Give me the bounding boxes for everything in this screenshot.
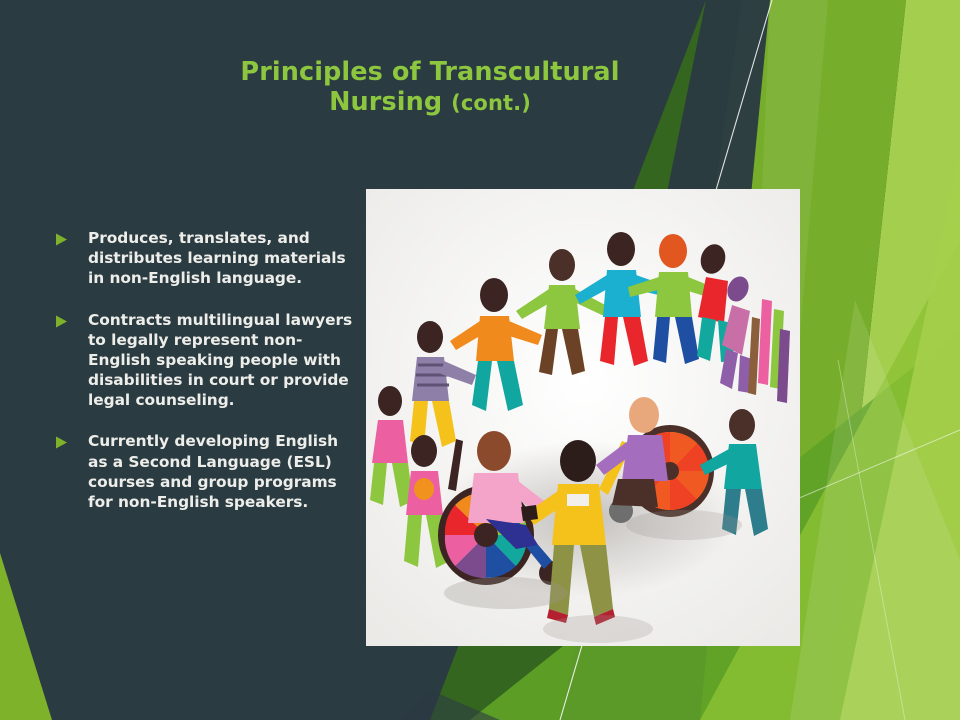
triangle-right-icon xyxy=(55,228,71,246)
bottom-right-glow xyxy=(790,300,960,720)
bullet-text: Currently developing English as a Second… xyxy=(88,431,355,512)
bullet-item: Produces, translates, and distributes le… xyxy=(55,228,355,289)
title-line-1: Principles of Transcultural xyxy=(120,58,740,88)
left-green-wedge xyxy=(0,553,52,720)
triangle-right-icon xyxy=(55,310,71,328)
bullet-text: Contracts multilingual lawyers to legall… xyxy=(88,310,355,411)
hairline-diagonal-right xyxy=(838,360,905,720)
right-pale-green-band xyxy=(828,0,960,720)
bullet-item: Contracts multilingual lawyers to legall… xyxy=(55,310,355,411)
bullet-list: Produces, translates, and distributes le… xyxy=(55,228,355,533)
slide-picture xyxy=(366,189,800,646)
title-line-2-main: Nursing xyxy=(329,87,442,117)
title-line-2: Nursing (cont.) xyxy=(120,88,740,118)
slide-title: Principles of Transcultural Nursing (con… xyxy=(120,58,740,117)
bottom-dark-notch xyxy=(400,690,500,720)
bullet-item: Currently developing English as a Second… xyxy=(55,431,355,512)
triangle-right-icon xyxy=(55,431,71,449)
slide-canvas: Principles of Transcultural Nursing (con… xyxy=(0,0,960,720)
title-continuation-label: (cont.) xyxy=(451,91,531,115)
bullet-text: Produces, translates, and distributes le… xyxy=(88,228,355,289)
bottom-right-pale-triangle xyxy=(840,150,960,720)
paper-people-illustration xyxy=(366,189,800,646)
